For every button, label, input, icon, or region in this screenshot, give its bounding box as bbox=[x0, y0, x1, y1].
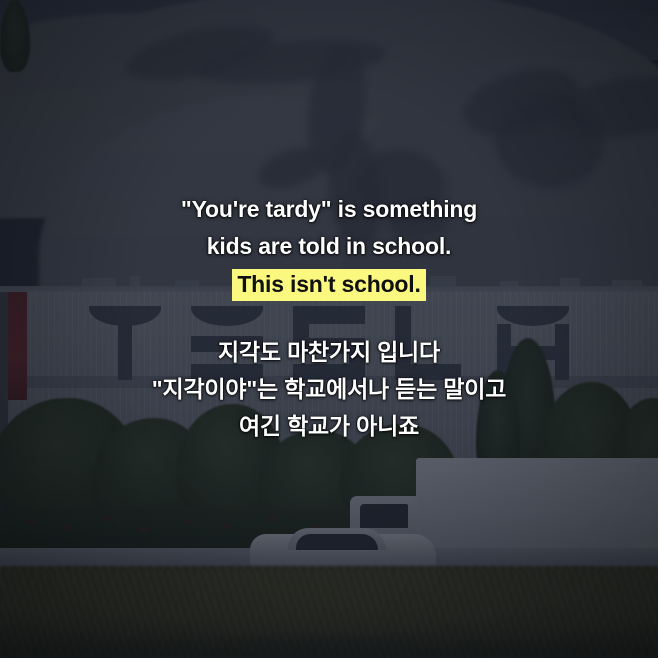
caption-line-korean-3: 여긴 학교가 아니죠 bbox=[239, 408, 419, 445]
screenshot-canvas: "You're tardy" is something kids are tol… bbox=[0, 0, 658, 658]
caption-line-korean-1: 지각도 마찬가지 입니다 bbox=[218, 334, 440, 371]
caption-line-english-2: kids are told in school. bbox=[207, 228, 451, 265]
caption-line-english-1: "You're tardy" is something bbox=[181, 191, 477, 228]
caption-line-highlighted: This isn't school. bbox=[232, 269, 425, 301]
caption-overlay: "You're tardy" is something kids are tol… bbox=[0, 0, 658, 658]
caption-line-korean-2: "지각이야"는 학교에서나 듣는 말이고 bbox=[152, 371, 506, 408]
